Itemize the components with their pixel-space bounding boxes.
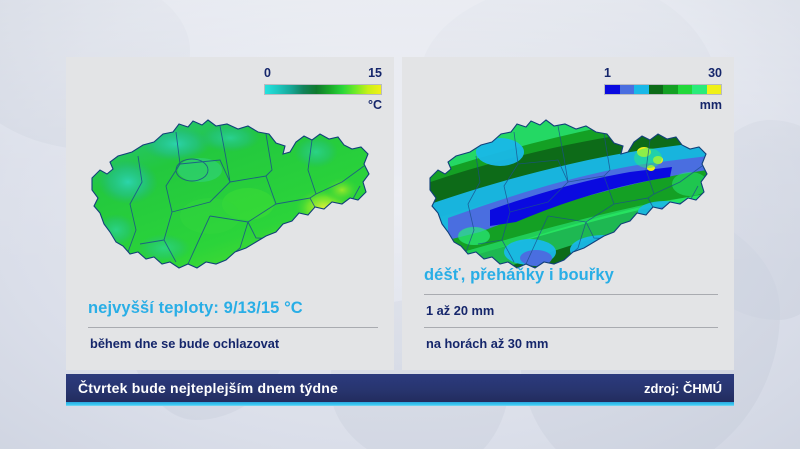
legend-swatch bbox=[605, 85, 620, 94]
temperature-map bbox=[66, 112, 394, 287]
legend-swatch bbox=[649, 85, 664, 94]
temperature-legend-min: 0 bbox=[264, 67, 271, 80]
headline-banner: Čtvrtek bude nejteplejším dnem týdne zdr… bbox=[66, 374, 734, 402]
precipitation-title: déšť, přeháňky i bouřky bbox=[424, 266, 718, 294]
temperature-legend: 0 15 °C bbox=[264, 67, 382, 111]
legend-swatch bbox=[634, 85, 649, 94]
precipitation-detail-line-2: na horách až 30 mm bbox=[424, 328, 718, 360]
banner-headline: Čtvrtek bude nejteplejším dnem týdne bbox=[78, 380, 338, 396]
temperature-legend-unit: °C bbox=[264, 99, 382, 112]
legend-swatch bbox=[692, 85, 707, 94]
banner-source: zdroj: ČHMÚ bbox=[644, 381, 722, 396]
legend-swatch bbox=[678, 85, 693, 94]
precipitation-panel: 1 30 mm bbox=[402, 57, 734, 370]
precipitation-detail-line-1: 1 až 20 mm bbox=[424, 295, 718, 327]
temperature-legend-max: 15 bbox=[368, 67, 382, 80]
temperature-colorbar bbox=[264, 84, 382, 95]
temperature-title: nejvyšší teploty: 9/13/15 °C bbox=[88, 299, 378, 327]
legend-swatch bbox=[663, 85, 678, 94]
precipitation-legend-unit: mm bbox=[604, 99, 722, 112]
precipitation-colorbar bbox=[604, 84, 722, 95]
temperature-detail-line-1: během dne se bude ochlazovat bbox=[88, 328, 378, 360]
banner-accent-stripe bbox=[66, 402, 734, 406]
precipitation-captions: déšť, přeháňky i bouřky 1 až 20 mm na ho… bbox=[424, 266, 718, 360]
temperature-captions: nejvyšší teploty: 9/13/15 °C během dne s… bbox=[88, 299, 378, 360]
precipitation-legend: 1 30 mm bbox=[604, 67, 722, 111]
temperature-panel: 0 15 °C bbox=[66, 57, 394, 370]
precipitation-legend-max: 30 bbox=[708, 67, 722, 80]
precipitation-map bbox=[402, 112, 734, 287]
legend-swatch bbox=[620, 85, 635, 94]
legend-swatch bbox=[707, 85, 722, 94]
precipitation-legend-min: 1 bbox=[604, 67, 611, 80]
